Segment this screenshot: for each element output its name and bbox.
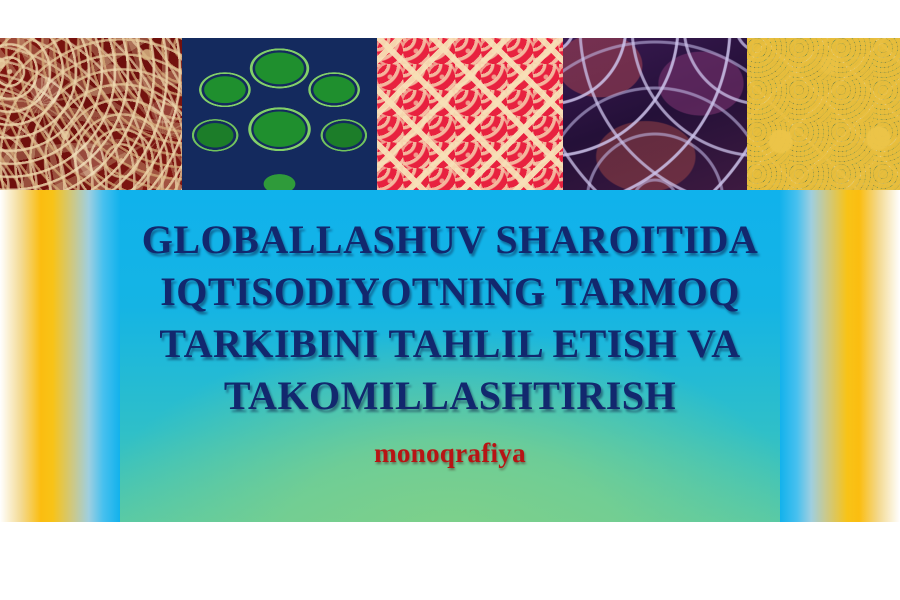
ornament-panel-paisley-red-gold xyxy=(0,38,182,190)
rosette-icon xyxy=(747,38,900,190)
ornament-panel-purple-ogee-damask xyxy=(563,38,747,190)
ornament-strip xyxy=(0,38,900,190)
title-banner: GLOBALLASHUV SHAROITIDA IQTISODIYOTNING … xyxy=(0,190,900,522)
navy-floral-outline-icon xyxy=(182,38,377,190)
ornament-panel-navy-green-floral xyxy=(182,38,377,190)
page-subtitle: monoqrafiya xyxy=(374,438,526,469)
cover-page: GLOBALLASHUV SHAROITIDA IQTISODIYOTNING … xyxy=(0,0,900,600)
lattice-scroll-detail-icon xyxy=(377,38,563,190)
ornament-panel-islamic-star-geometry xyxy=(747,38,900,190)
page-title-line-1: GLOBALLASHUV SHAROITIDA xyxy=(70,214,830,266)
ornament-panel-crimson-cream-lattice xyxy=(377,38,563,190)
page-title-line-4: TAKOMILLASHTIRISH xyxy=(70,370,830,422)
page-title-line-2: IQTISODIYOTNING TARMOQ xyxy=(70,266,830,318)
ogee-lattice-icon xyxy=(563,38,747,190)
paisley-highlights-icon xyxy=(0,38,182,190)
banner-content: GLOBALLASHUV SHAROITIDA IQTISODIYOTNING … xyxy=(0,190,900,522)
page-title-line-3: TARKIBINI TAHLIL ETISH VA xyxy=(70,318,830,370)
page-title: GLOBALLASHUV SHAROITIDA IQTISODIYOTNING … xyxy=(70,214,830,422)
